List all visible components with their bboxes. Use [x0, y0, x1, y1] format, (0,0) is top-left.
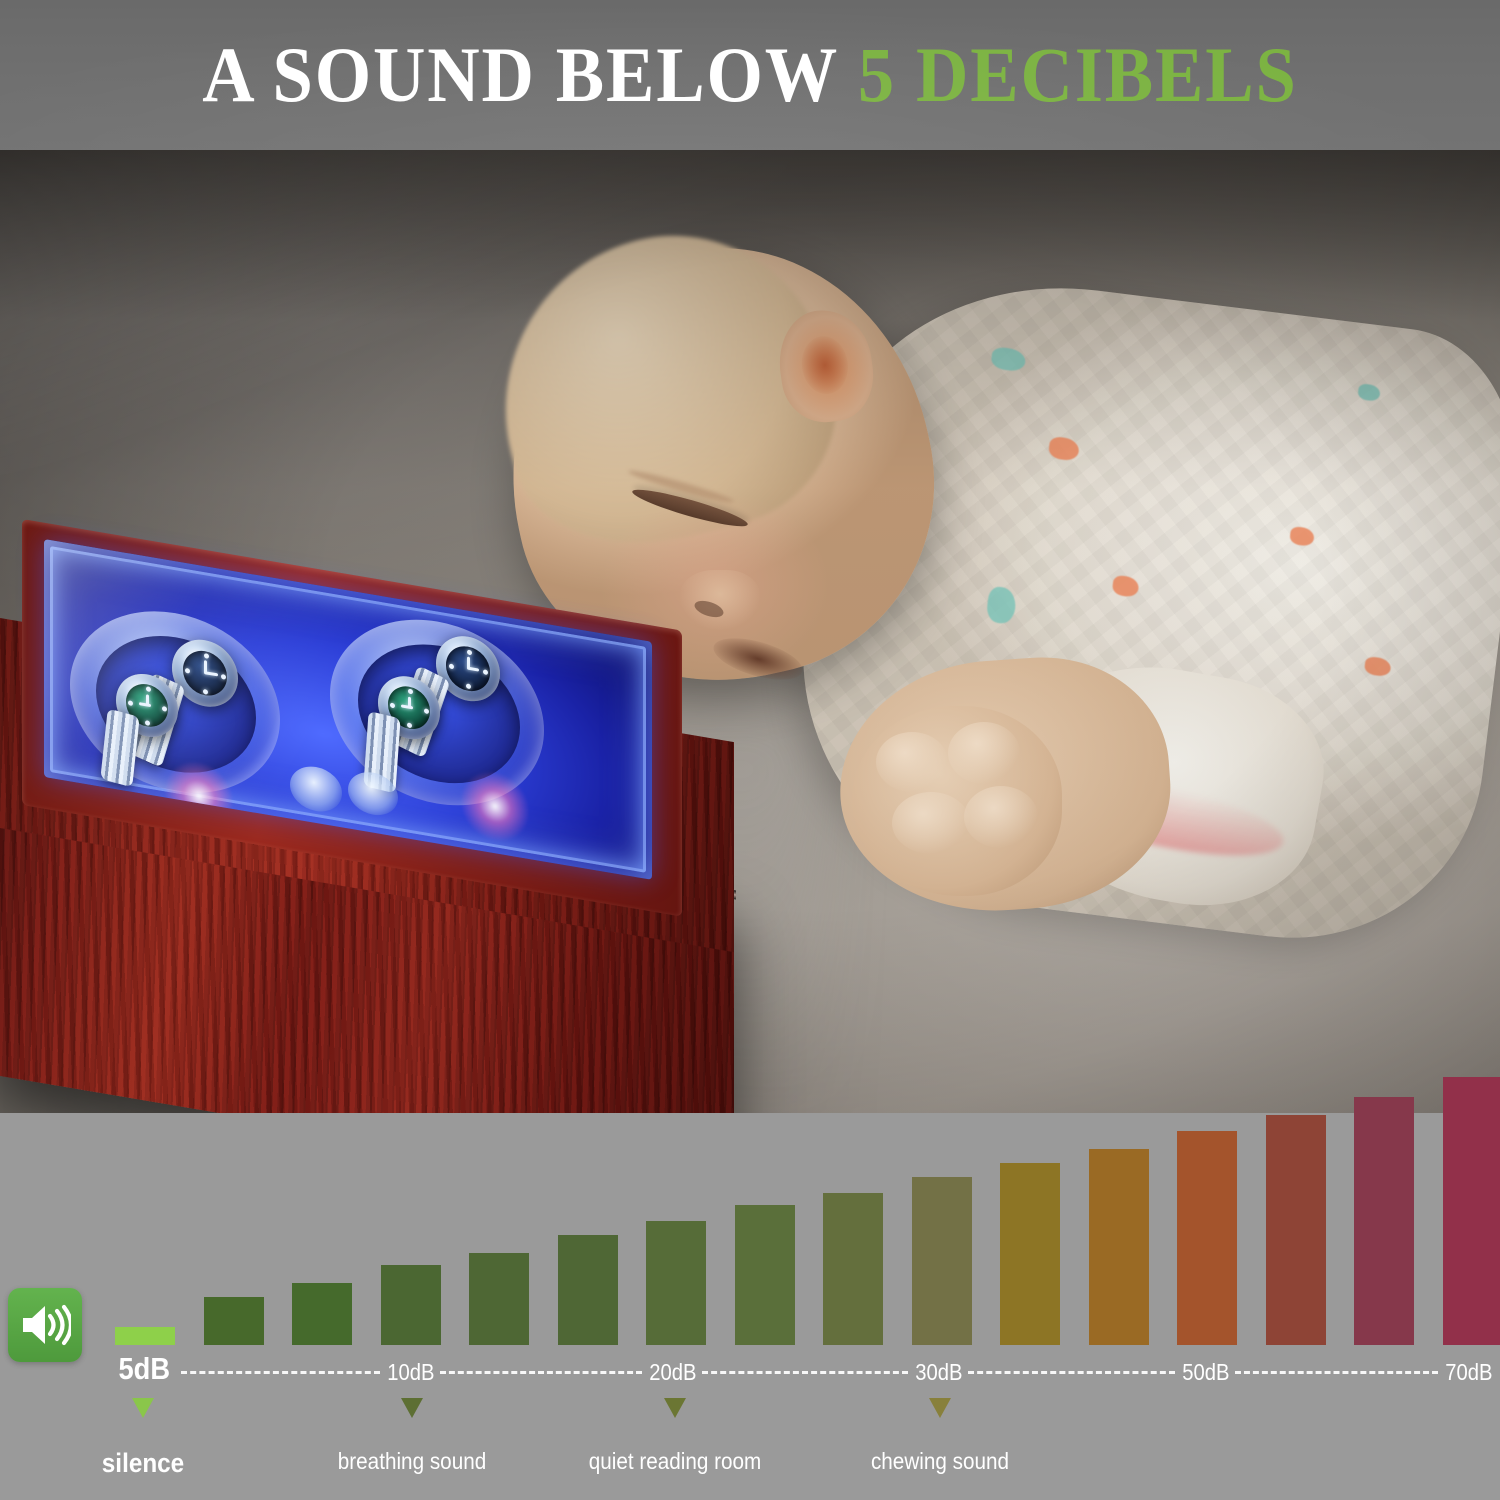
chart-bar — [204, 1297, 264, 1345]
headline-green-part: 5 DECIBELS — [858, 31, 1298, 118]
chart-bar — [823, 1193, 883, 1345]
product-infographic: A SOUND BELOW 5 DECIBELS — [0, 0, 1500, 1500]
axis-tick-label: 30dB — [915, 1359, 962, 1385]
annotation-marker-triangle — [132, 1398, 154, 1418]
chart-bar — [1266, 1115, 1326, 1345]
chart-bar — [1089, 1149, 1149, 1345]
annotation-caption: quiet reading room — [589, 1448, 762, 1475]
chart-bar — [469, 1253, 529, 1345]
chart-bar — [735, 1205, 795, 1345]
axis-tick-label: 50dB — [1182, 1359, 1229, 1385]
annotation-marker-triangle — [664, 1398, 686, 1418]
decibel-axis: 5dB10dB20dB30dB50dB70dB — [0, 1359, 1500, 1385]
headline-white-part: A SOUND BELOW — [202, 31, 838, 118]
chart-bar — [292, 1283, 352, 1345]
axis-tick-label: 5dB — [119, 1356, 171, 1382]
chart-bar — [381, 1265, 441, 1345]
axis-dash-segment — [181, 1371, 380, 1374]
page-title: A SOUND BELOW 5 DECIBELS — [53, 27, 1448, 123]
chart-bar — [1177, 1131, 1237, 1345]
chart-bar — [646, 1221, 706, 1345]
chart-bar — [558, 1235, 618, 1345]
chart-bar — [1443, 1077, 1500, 1345]
watch-winder-box — [0, 495, 802, 1135]
annotation-caption: silence — [102, 1448, 184, 1479]
axis-tick-label: 20dB — [649, 1359, 696, 1385]
chart-bar — [912, 1177, 972, 1345]
annotation-marker-triangle — [401, 1398, 423, 1418]
chart-bar — [1000, 1163, 1060, 1345]
axis-dash-segment — [968, 1371, 1175, 1374]
annotation-caption: chewing sound — [871, 1448, 1009, 1475]
annotation-caption: breathing sound — [338, 1448, 486, 1475]
annotation-marker-triangle — [929, 1398, 951, 1418]
axis-dash-segment — [1235, 1371, 1438, 1374]
decibel-bars — [0, 1113, 1500, 1345]
axis-dash-segment — [440, 1371, 642, 1374]
chart-bar — [1354, 1097, 1414, 1345]
axis-dash-segment — [702, 1371, 908, 1374]
header-band: A SOUND BELOW 5 DECIBELS — [0, 0, 1500, 150]
chart-bar — [115, 1327, 175, 1345]
axis-tick-label: 70dB — [1445, 1359, 1492, 1385]
axis-tick-label: 10dB — [387, 1359, 434, 1385]
